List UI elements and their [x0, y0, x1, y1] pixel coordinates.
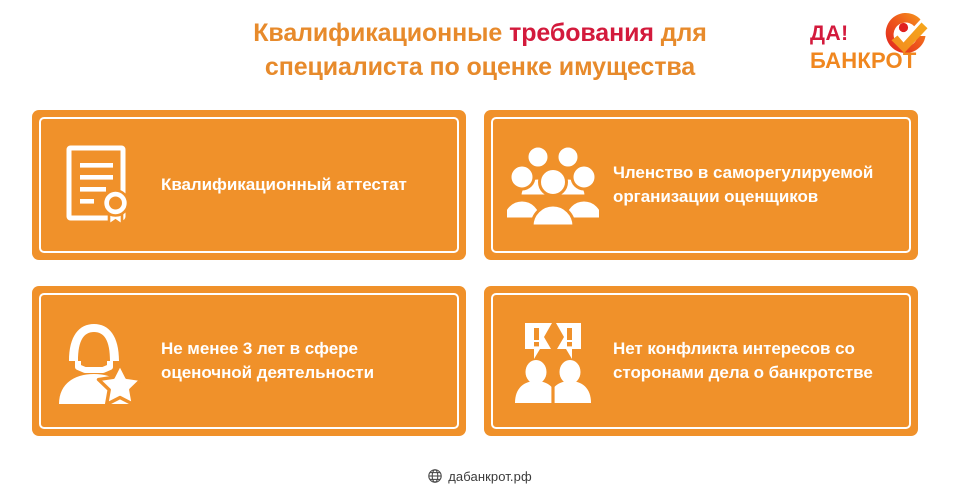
card-label: Квалификационный аттестат — [161, 173, 457, 197]
title-part-for: для — [654, 19, 707, 47]
title-part-qualification: Квалификационные — [253, 19, 509, 47]
card-inner-frame: Нет конфликта интересов со сторонами дел… — [491, 293, 911, 429]
footer: дабанкрот.рф — [0, 462, 960, 490]
person-star-icon — [41, 306, 161, 416]
header: Квалификационные требования для специали… — [0, 0, 960, 100]
title-line-two: специалиста по оценке имущества — [265, 53, 695, 81]
card-inner-frame: Не менее 3 лет в сфере оценочной деятель… — [39, 293, 459, 429]
card-label: Членство в саморегулируемой организации … — [613, 161, 909, 209]
card-inner-frame: Квалификационный аттестат — [39, 117, 459, 253]
requirements-grid: Квалификационный аттестат — [32, 110, 928, 446]
page-title: Квалификационные требования для специали… — [120, 16, 840, 84]
site-url[interactable]: дабанкрот.рф — [448, 469, 532, 484]
brand-logo[interactable]: ДА! БАНКРОТ — [808, 8, 938, 86]
card-sro-membership[interactable]: Членство в саморегулируемой организации … — [484, 110, 918, 260]
card-inner-frame: Членство в саморегулируемой организации … — [491, 117, 911, 253]
conflict-people-icon — [493, 306, 613, 416]
card-experience-3-years[interactable]: Не менее 3 лет в сфере оценочной деятель… — [32, 286, 466, 436]
card-qualification-certificate[interactable]: Квалификационный аттестат — [32, 110, 466, 260]
logo-word-bankrot: БАНКРОТ — [810, 48, 917, 74]
certificate-icon — [41, 130, 161, 240]
logo-word-da: ДА! — [810, 22, 849, 46]
card-label: Нет конфликта интересов со сторонами дел… — [613, 337, 909, 385]
card-no-conflict-of-interest[interactable]: Нет конфликта интересов со сторонами дел… — [484, 286, 918, 436]
card-label: Не менее 3 лет в сфере оценочной деятель… — [161, 337, 457, 385]
people-group-icon — [493, 130, 613, 240]
title-part-requirements: требования — [509, 19, 654, 47]
globe-icon — [428, 469, 442, 483]
infographic-root: Квалификационные требования для специали… — [0, 0, 960, 497]
